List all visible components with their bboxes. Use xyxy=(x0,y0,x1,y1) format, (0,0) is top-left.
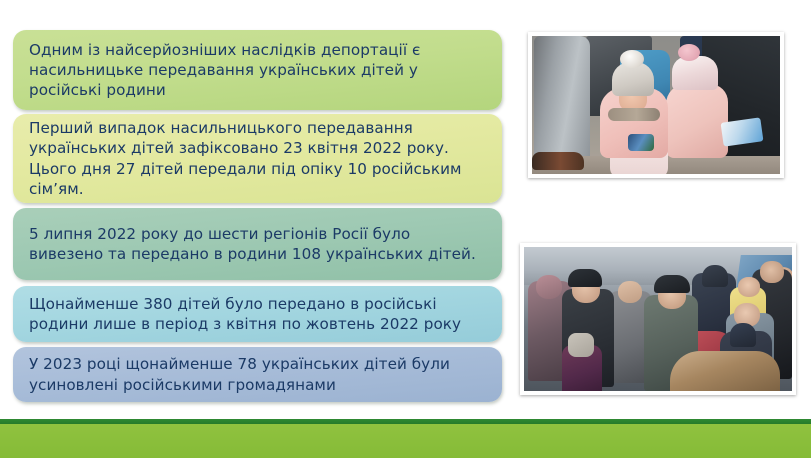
callout-text-3: 5 липня 2022 року до шести регіонів Росі… xyxy=(29,224,488,264)
photo-bottom-head-1 xyxy=(536,275,562,299)
callout-box-2[interactable]: Перший випадок насильницького передаванн… xyxy=(13,114,502,203)
photo-top-child-right-hat xyxy=(672,56,718,90)
callout-text-1: Одним із найсерйозніших наслідків депорт… xyxy=(29,40,488,101)
callout-box-3[interactable]: 5 липня 2022 року до шести регіонів Росі… xyxy=(13,208,502,280)
photo-bottom-hat-2 xyxy=(568,269,602,287)
photo-top-shoe xyxy=(532,152,584,170)
callout-box-4[interactable]: Щонайменше 380 дітей було передано в рос… xyxy=(13,286,502,342)
photo-bottom-content xyxy=(524,247,792,391)
photo-top-adult-legs xyxy=(534,36,590,164)
footer-green-bar xyxy=(0,424,811,458)
callout-text-2: Перший випадок насильницького передаванн… xyxy=(29,118,488,199)
callout-text-4: Щонайменше 380 дітей було передано в рос… xyxy=(29,294,488,334)
photo-top-child-left-scarf xyxy=(608,108,660,121)
photo-refugee-crowd xyxy=(520,243,796,395)
photo-top-child-left-pompom xyxy=(620,50,644,68)
photo-top-child-right-pompom xyxy=(678,44,700,61)
photo-bottom-hat-4 xyxy=(654,275,690,293)
callout-box-5[interactable]: У 2023 році щонайменше 78 українських ді… xyxy=(13,347,502,402)
photo-bottom-head-5 xyxy=(702,265,728,287)
photo-bottom-child-mittens xyxy=(568,333,594,357)
photo-top-child-right-coat xyxy=(666,84,728,158)
photo-top-content xyxy=(532,36,780,174)
callout-stack: Одним із найсерйозніших наслідків депорт… xyxy=(13,30,502,402)
callout-box-1[interactable]: Одним із найсерйозніших наслідків депорт… xyxy=(13,30,502,110)
photo-bottom-head-6 xyxy=(738,277,760,297)
photo-bottom-head-9 xyxy=(730,323,756,347)
slide-canvas: Одним із найсерйозніших наслідків депорт… xyxy=(0,0,811,458)
photo-top-toy xyxy=(628,134,654,151)
photo-children-pink-coats xyxy=(528,32,784,178)
photo-bottom-head-3 xyxy=(618,281,642,303)
photo-bottom-blanket xyxy=(670,351,780,391)
callout-text-5: У 2023 році щонайменше 78 українських ді… xyxy=(29,354,488,394)
photo-bottom-head-8 xyxy=(760,261,784,283)
